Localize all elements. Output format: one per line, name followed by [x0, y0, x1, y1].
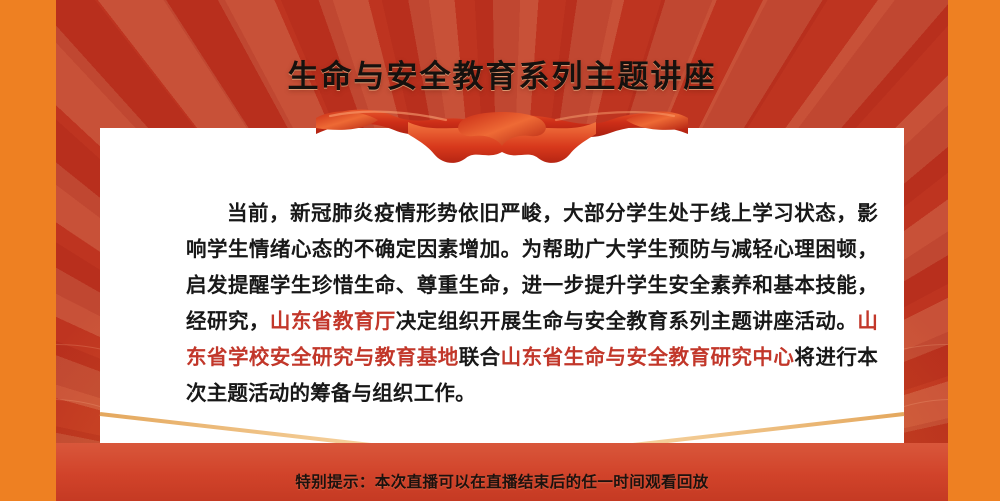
footer-note: 特别提示：本次直播可以在直播结束后的任一时间观看回放	[56, 470, 948, 492]
slide-stage: 生命与安全教育系列主题讲座	[56, 0, 948, 501]
paragraph-run-emphasis: 山东省生命与安全教育研究中心	[501, 346, 795, 369]
letterbox-bar-left	[0, 0, 56, 501]
announcement-paragraph: 当前，新冠肺炎疫情形势依旧严峻，大部分学生处于线上学习状态，影响学生情绪心态的不…	[186, 196, 878, 412]
slide-screen: 生命与安全教育系列主题讲座	[0, 0, 1000, 501]
slide-title: 生命与安全教育系列主题讲座	[56, 51, 948, 96]
paragraph-run: 联合	[459, 346, 501, 369]
paragraph-run: 决定组织开展生命与安全教育系列主题讲座活动。	[396, 310, 858, 333]
paragraph-run-emphasis: 山东省教育厅	[270, 310, 396, 333]
letterbox-bar-right	[948, 0, 1000, 501]
